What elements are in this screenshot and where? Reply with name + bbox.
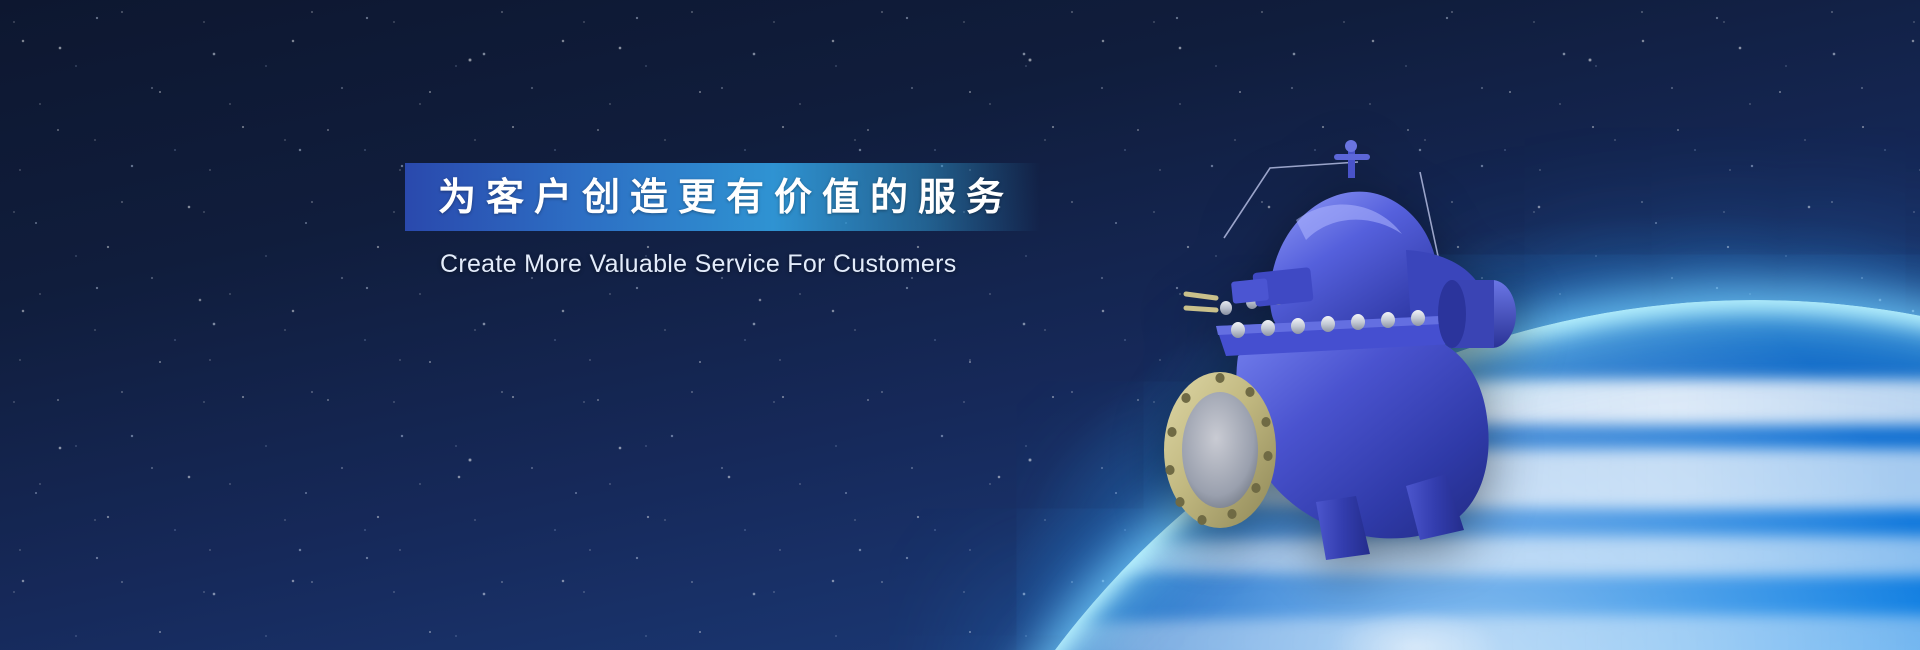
banner-subheadline-en: Create More Valuable Service For Custome… [440, 250, 957, 279]
pump-grease-pipes [1186, 294, 1216, 310]
starfield-layer-bright [0, 0, 1920, 650]
starfield-fade-overlay [0, 0, 1920, 650]
starfield-layer-small [0, 0, 1920, 650]
pump-bearing-housing [1438, 280, 1516, 348]
hero-banner: 为客户创造更有价值的服务 Create More Valuable Servic… [0, 0, 1920, 650]
banner-headline-zh: 为客户创造更有价值的服务 [438, 170, 1014, 224]
pump-seal-housing [1231, 267, 1314, 307]
starfield-layer-tiny [0, 0, 1920, 650]
pump-air-valve [1334, 140, 1370, 178]
earth-horizon-graphic [0, 0, 1920, 650]
split-case-centrifugal-pump-image [1120, 130, 1540, 570]
pump-suction-flange [1164, 372, 1276, 528]
